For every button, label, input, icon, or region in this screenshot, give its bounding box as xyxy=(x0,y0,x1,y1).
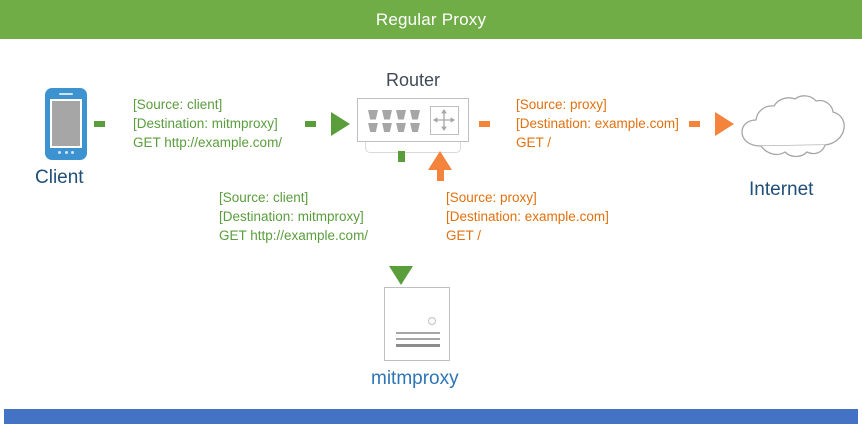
node-label-internet: Internet xyxy=(749,179,813,201)
cloud-icon xyxy=(737,94,847,162)
packet-line-request: GET http://example.com/ xyxy=(133,133,282,152)
flow-line-router-to-mitmproxy xyxy=(398,151,405,266)
packet-line-source: [Source: proxy] xyxy=(516,95,679,114)
diagram-canvas: Regular Proxy Client Router xyxy=(0,0,862,428)
packet-line-destination: [Destination: example.com] xyxy=(446,207,609,226)
node-label-mitmproxy: mitmproxy xyxy=(371,368,459,390)
title-banner: Regular Proxy xyxy=(0,0,862,39)
packet-line-request: GET / xyxy=(516,133,679,152)
document-text-line xyxy=(396,338,440,340)
packet-line-destination: [Destination: mitmproxy] xyxy=(133,114,282,133)
flow-line-mitmproxy-to-router xyxy=(437,170,444,288)
node-label-client: Client xyxy=(35,167,84,189)
packet-line-destination: [Destination: example.com] xyxy=(516,114,679,133)
flow-arrowhead-client-to-router xyxy=(331,112,350,136)
packet-line-source: [Source: client] xyxy=(133,95,282,114)
flow-arrowhead-router-to-mitmproxy xyxy=(389,266,413,285)
phone-screen xyxy=(50,99,82,148)
page-title: Regular Proxy xyxy=(376,10,486,30)
document-text-line xyxy=(396,332,440,334)
packet-line-request: GET http://example.com/ xyxy=(219,226,368,245)
flow-line-router-to-internet xyxy=(689,121,715,127)
node-label-router: Router xyxy=(386,70,440,91)
document-circle xyxy=(428,317,436,325)
flow-line-client-to-router xyxy=(305,121,331,127)
packet-line-request: GET / xyxy=(446,226,609,245)
flow-line-router-to-internet xyxy=(479,121,515,127)
packet-label-router-to-internet: [Source: proxy] [Destination: example.co… xyxy=(516,95,679,152)
packet-line-source: [Source: proxy] xyxy=(446,188,609,207)
router-four-way-arrow-icon xyxy=(430,106,459,135)
packet-line-source: [Source: client] xyxy=(219,188,368,207)
router-port-leds xyxy=(368,110,420,132)
phone-home-dots xyxy=(58,151,74,154)
flow-arrowhead-router-to-internet xyxy=(715,112,734,136)
document-text-line xyxy=(396,344,440,347)
flow-line-client-to-router xyxy=(94,121,134,127)
document-icon xyxy=(384,287,450,361)
smartphone-icon xyxy=(45,88,87,160)
phone-speaker xyxy=(59,93,73,95)
router-icon xyxy=(357,98,469,142)
flow-arrowhead-mitmproxy-to-router xyxy=(428,151,452,170)
packet-label-client-to-router: [Source: client] [Destination: mitmproxy… xyxy=(133,95,282,152)
packet-line-destination: [Destination: mitmproxy] xyxy=(219,207,368,226)
packet-label-router-to-mitmproxy: [Source: client] [Destination: mitmproxy… xyxy=(219,188,368,245)
bottom-accent-bar xyxy=(4,409,858,424)
packet-label-mitmproxy-to-router: [Source: proxy] [Destination: example.co… xyxy=(446,188,609,245)
